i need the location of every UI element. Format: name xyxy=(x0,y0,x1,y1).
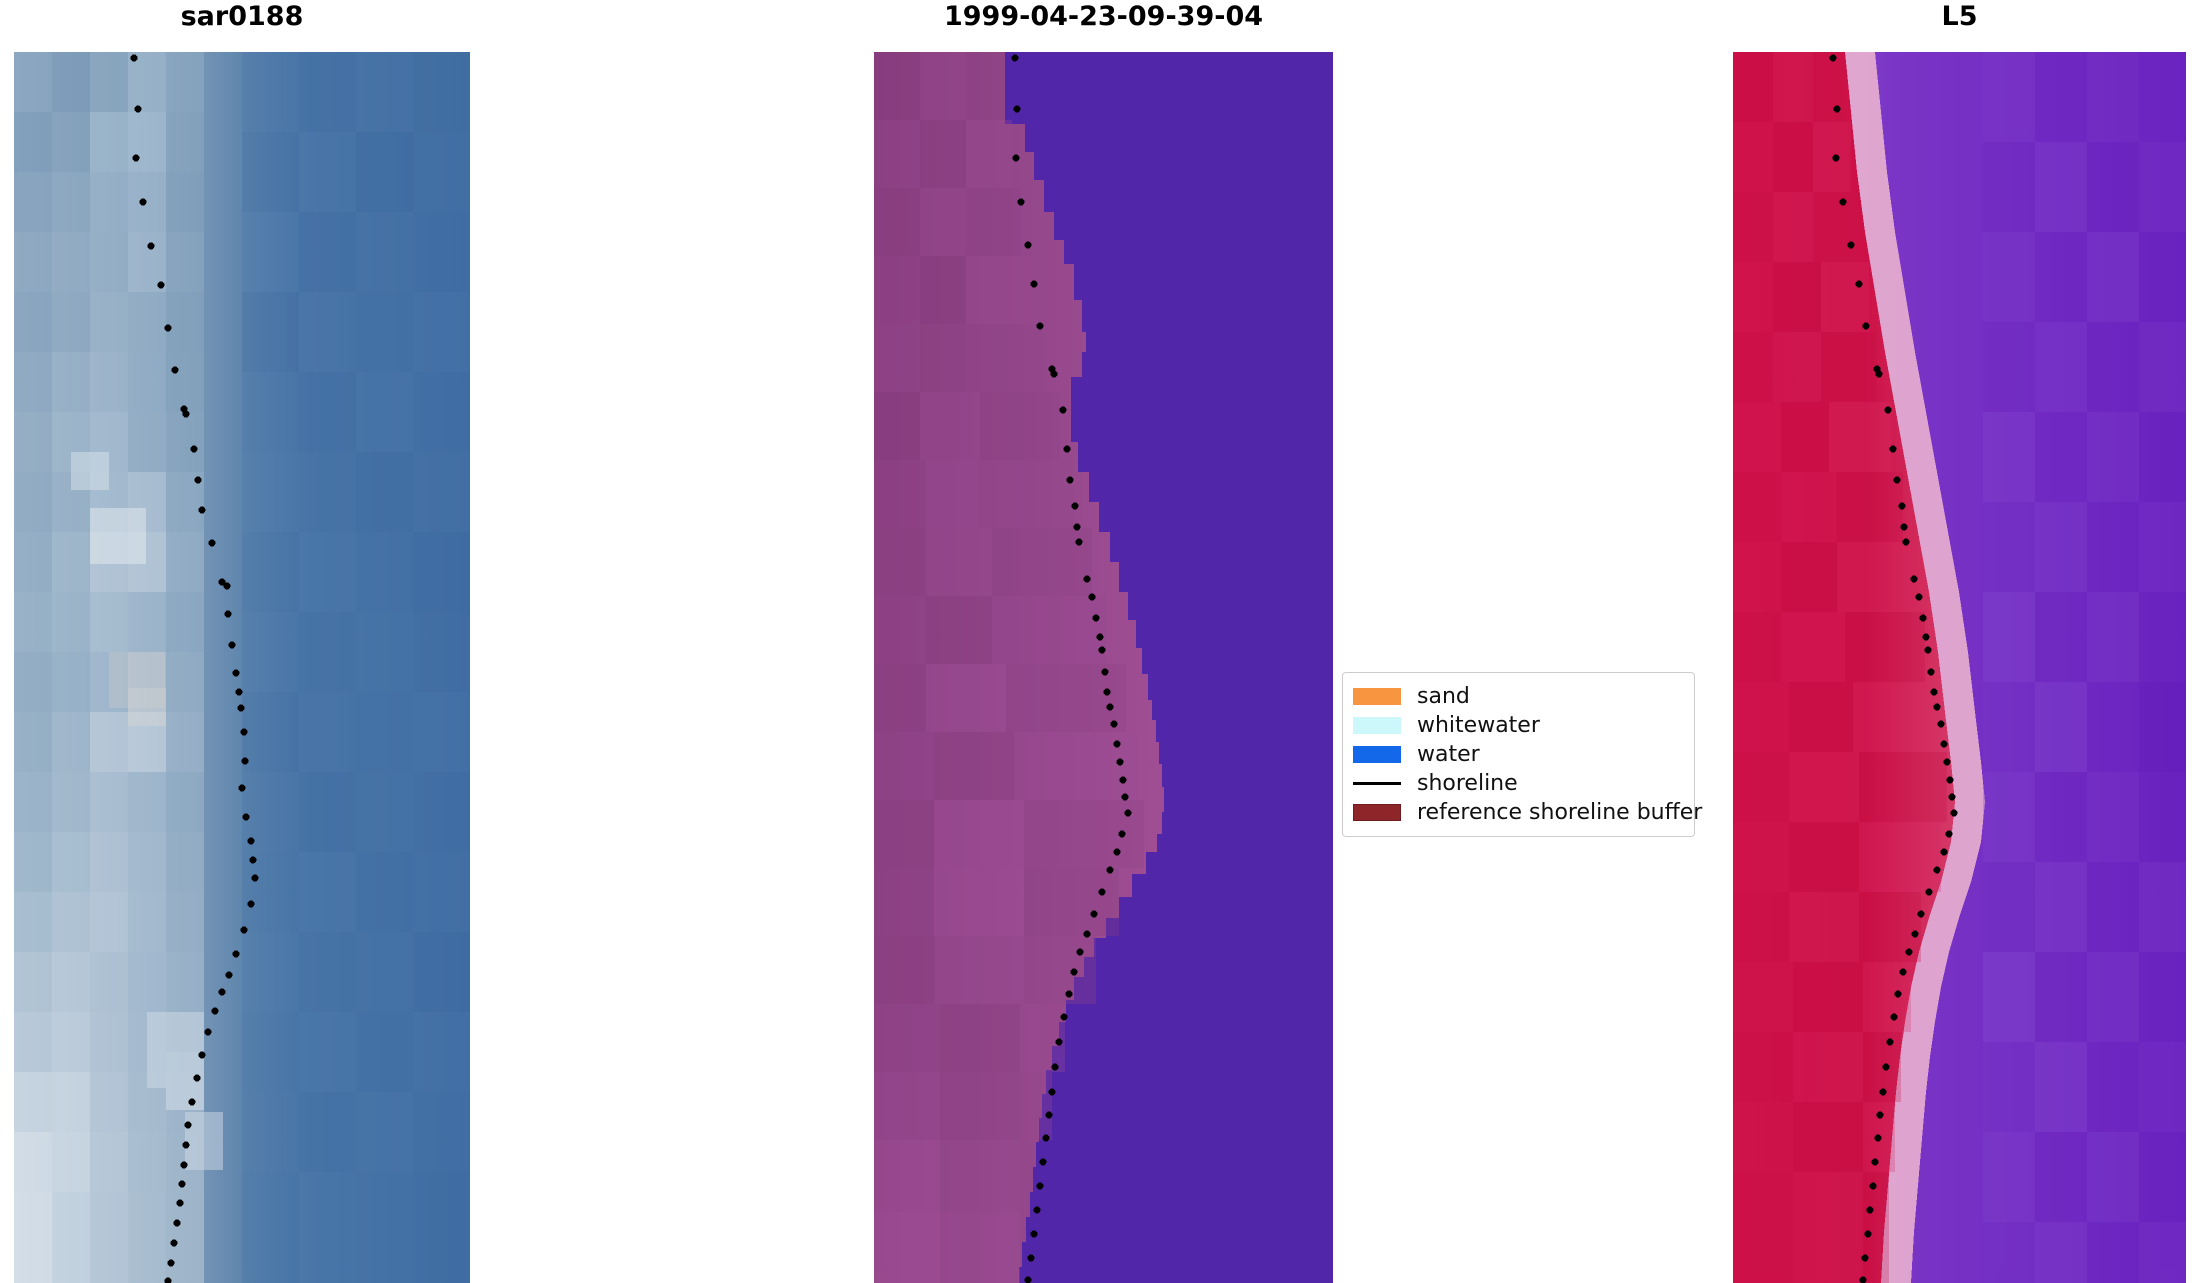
water-swatch xyxy=(1353,746,1401,763)
panel-title-sar: sar0188 xyxy=(14,0,470,34)
legend-box: sand whitewater water shoreline referenc… xyxy=(1342,672,1695,837)
shoreline-line-swatch xyxy=(1353,775,1401,792)
panel-l5: L5 xyxy=(1733,0,2186,1283)
whitewater-swatch xyxy=(1353,717,1401,734)
legend-item-sand: sand xyxy=(1353,682,1682,711)
panel-image-l5[interactable] xyxy=(1733,52,2186,1283)
sand-swatch xyxy=(1353,688,1401,705)
legend-item-whitewater: whitewater xyxy=(1353,711,1682,740)
legend-item-water: water xyxy=(1353,740,1682,769)
legend-label-whitewater: whitewater xyxy=(1417,714,1540,738)
panel-sar: sar0188 xyxy=(14,0,470,1283)
panel-title-l5: L5 xyxy=(1733,0,2186,34)
figure-canvas: sar0188 xyxy=(0,0,2200,1283)
legend-label-shoreline: shoreline xyxy=(1417,772,1518,796)
panel-title-classified: 1999-04-23-09-39-04 xyxy=(874,0,1333,34)
legend-label-sand: sand xyxy=(1417,685,1470,709)
legend-item-reference-shoreline-buffer: reference shoreline buffer xyxy=(1353,798,1682,827)
legend-label-water: water xyxy=(1417,743,1480,767)
panel-image-classified[interactable] xyxy=(874,52,1333,1283)
panel-classified: 1999-04-23-09-39-04 xyxy=(874,0,1333,1283)
legend-item-shoreline: shoreline xyxy=(1353,769,1682,798)
legend-label-reference-shoreline-buffer: reference shoreline buffer xyxy=(1417,801,1702,825)
panel-image-sar[interactable] xyxy=(14,52,470,1283)
reference-shoreline-buffer-swatch xyxy=(1353,804,1401,821)
